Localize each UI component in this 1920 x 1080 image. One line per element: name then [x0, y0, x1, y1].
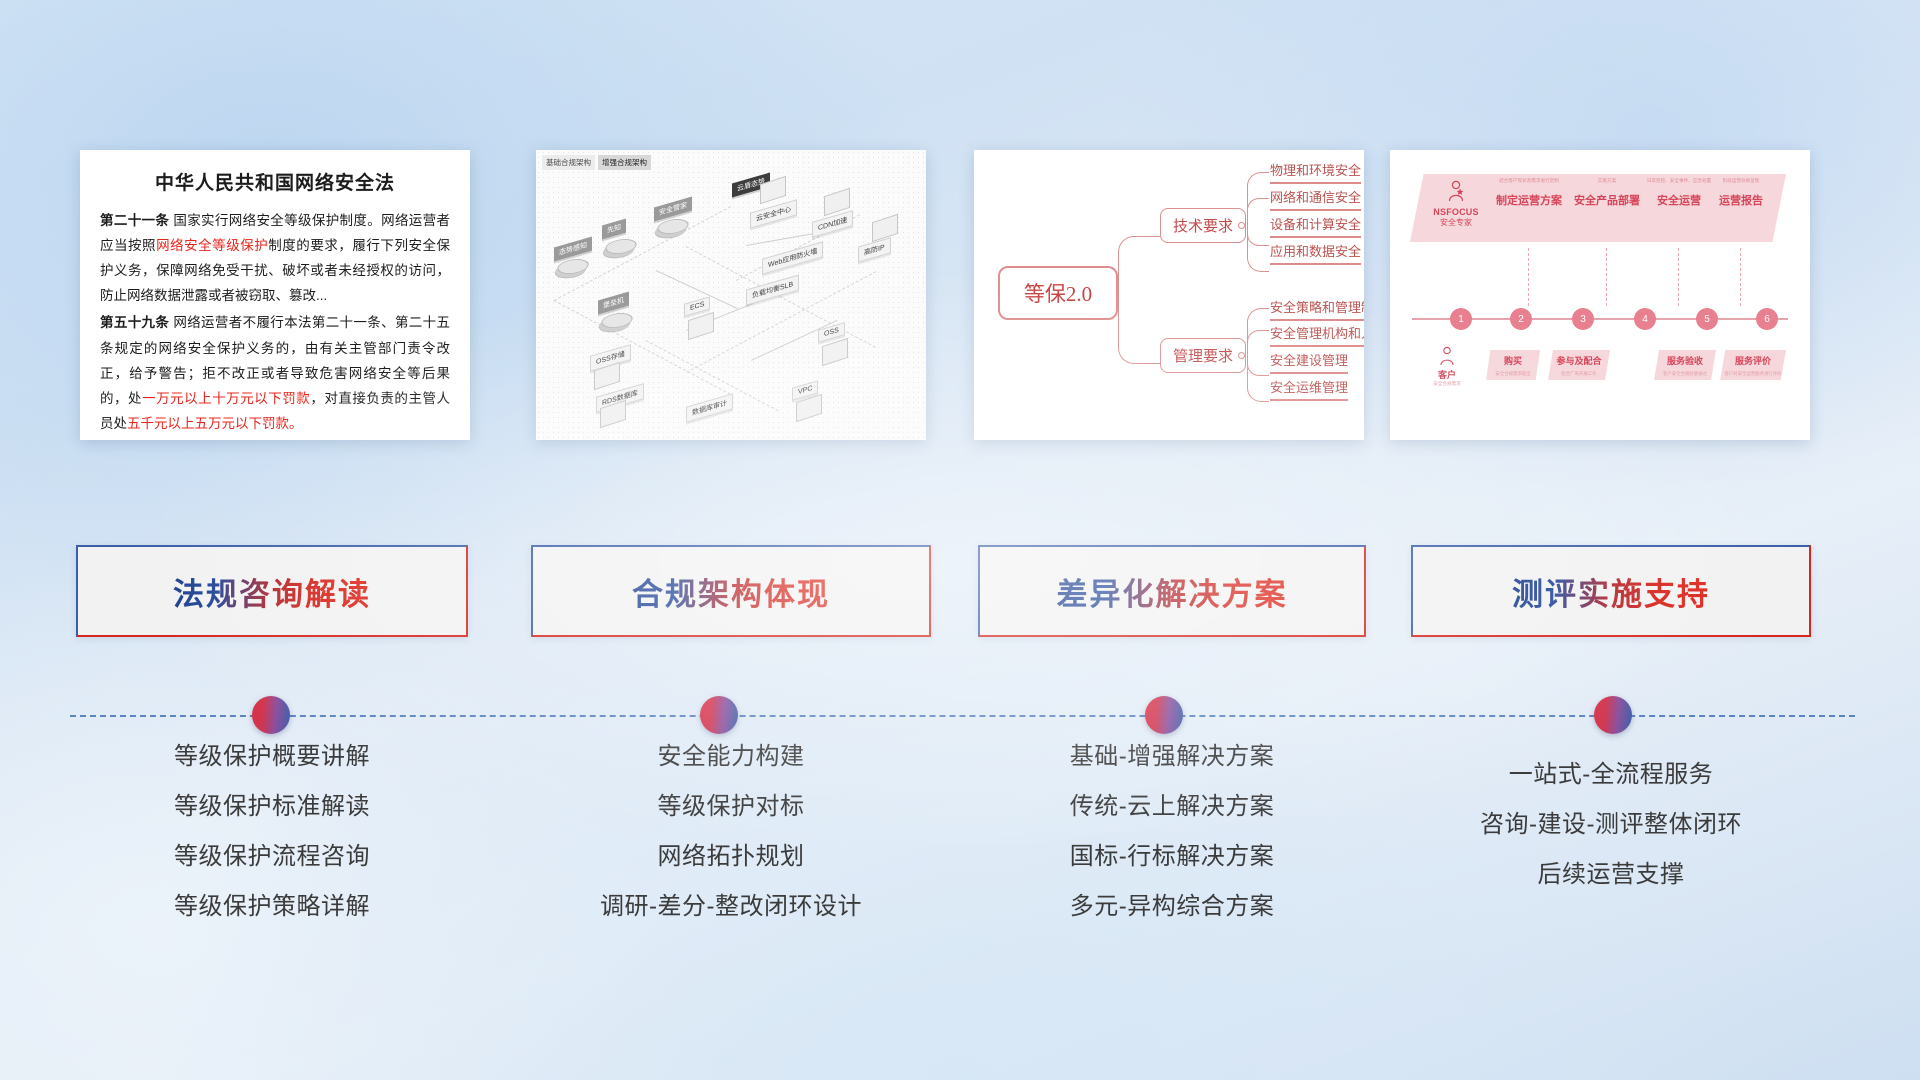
list-item: 咨询-建设-测评整体闭环: [1411, 813, 1811, 837]
nsfocus-step-sub: 阶段运营效果呈现: [1702, 178, 1780, 184]
architecture-tab-basic[interactable]: 基础合规架构: [542, 155, 595, 170]
iso-node: 云安全中心: [750, 199, 797, 228]
card-mindmap-dengbao: 等保2.0 技术要求 管理要求 物理和环境安全 网络和通信安全 设备和计算安全 …: [974, 150, 1364, 440]
architecture-tabs: 基础合规架构 增强合规架构: [542, 155, 651, 170]
card-compliance-architecture: 基础合规架构 增强合规架构 云盾态势 安全管家 先知 态势感知: [536, 150, 926, 440]
mindmap-leaf: 应用和数据安全: [1270, 241, 1361, 265]
iso-node: 先知: [602, 219, 626, 240]
mindmap-connector: [1247, 198, 1269, 226]
nsfocus-chip-sub: 客户安全合规验收通过: [1658, 371, 1712, 377]
iso-node: 堡垒机: [598, 292, 629, 315]
iso-node-disc: [654, 219, 693, 234]
nsfocus-customer-label: 客户: [1420, 368, 1474, 381]
mindmap-leaf: 安全建设管理: [1270, 350, 1348, 374]
nsfocus-step-sub: 结合客户现状及需求进行定制: [1490, 178, 1568, 184]
detail-list-compliance-architecture: 安全能力构建 等级保护对标 网络拓扑规划 调研-差分-整改闭环设计: [531, 745, 931, 945]
iso-node-disc: [598, 313, 637, 328]
list-item: 网络拓扑规划: [531, 845, 931, 869]
list-item: 安全能力构建: [531, 745, 931, 769]
nsfocus-dropline: [1606, 248, 1607, 306]
mindmap-node-dot: [1238, 352, 1245, 359]
timeline-dot-3[interactable]: [1145, 696, 1183, 734]
list-item: 调研-差分-整改闭环设计: [531, 895, 931, 919]
nsfocus-step-column: 结合客户现状及需求进行定制 制定运营方案: [1490, 178, 1568, 208]
list-item: 等级保护对标: [531, 795, 931, 819]
iso-node: CDN加速: [812, 210, 853, 238]
architecture-diagram: 基础合规架构 增强合规架构 云盾态势 安全管家 先知 态势感知: [536, 150, 926, 440]
nsfocus-chip-sub: 安全合规需求提出: [1490, 371, 1536, 377]
heading-label: 法规咨询解读: [173, 569, 371, 614]
heading-box-compliance-architecture[interactable]: 合规架构体现: [531, 545, 931, 637]
iso-node: Web应用防火墙: [762, 241, 823, 275]
iso-node-disc: [602, 239, 641, 254]
headings-row: 法规咨询解读 合规架构体现 差异化解决方案 测评实施支持: [0, 545, 1920, 637]
nsfocus-step-title: 运营报告: [1702, 192, 1780, 208]
mindmap-leaf: 安全策略和管理制度: [1270, 297, 1364, 321]
heading-box-regulation-consulting[interactable]: 法规咨询解读: [76, 545, 468, 637]
mindmap-node-dot: [1238, 222, 1245, 229]
mindmap-leaf: 安全管理机构和人员: [1270, 323, 1364, 347]
nsfocus-dropline: [1678, 248, 1679, 306]
architecture-tab-enhanced[interactable]: 增强合规架构: [598, 155, 651, 170]
nsfocus-step-sub: 实施方案: [1568, 178, 1646, 184]
nsfocus-chip-title: 购买: [1490, 356, 1536, 368]
timeline: [0, 696, 1920, 736]
detail-list-differentiated-solution: 基础-增强解决方案 传统-云上解决方案 国标-行标解决方案 多元-异构综合方案: [978, 745, 1366, 945]
list-item: 一站式-全流程服务: [1411, 763, 1811, 787]
list-item: 等级保护概要讲解: [76, 745, 468, 769]
expert-avatar-icon: [1446, 180, 1466, 202]
nsfocus-bottom-chip: 服务验收 客户安全合规验收通过: [1654, 350, 1716, 380]
nsfocus-expert-block: NSFOCUS 安全专家: [1424, 180, 1488, 229]
iso-node: 态势感知: [554, 237, 592, 262]
nsfocus-step-title: 安全产品部署: [1568, 192, 1646, 208]
nsfocus-dropline: [1528, 248, 1529, 306]
mindmap-branch-technical: 技术要求: [1160, 208, 1246, 243]
timeline-dot-4[interactable]: [1594, 696, 1632, 734]
iso-node: 安全管家: [654, 197, 692, 222]
detail-list-regulation-consulting: 等级保护概要讲解 等级保护标准解读 等级保护流程咨询 等级保护策略详解: [76, 745, 468, 945]
law-title: 中华人民共和国网络安全法: [100, 168, 450, 195]
timeline-dot-1[interactable]: [252, 696, 290, 734]
nsfocus-step-number: 6: [1756, 308, 1778, 330]
nsfocus-customer-sub: 安全合规需求: [1420, 381, 1474, 387]
nsfocus-chip-title: 服务评价: [1724, 356, 1782, 368]
nsfocus-chip-sub: 配合厂商开展工作: [1552, 371, 1606, 377]
mindmap-connector: [1118, 292, 1160, 364]
nsfocus-chip-title: 服务验收: [1658, 356, 1712, 368]
iso-node-cube: [822, 338, 848, 366]
list-item: 国标-行标解决方案: [978, 845, 1366, 869]
mindmap-connector: [1247, 224, 1269, 272]
timeline-dashed-line: [70, 715, 1855, 717]
nsfocus-step-number: 4: [1634, 308, 1656, 330]
heading-box-assessment-support[interactable]: 测评实施支持: [1411, 545, 1811, 637]
nsfocus-brand: NSFOCUS: [1424, 206, 1488, 218]
timeline-dot-2[interactable]: [700, 696, 738, 734]
list-item: 多元-异构综合方案: [978, 895, 1366, 919]
mindmap-connector: [1247, 354, 1269, 402]
mindmap-branch-management: 管理要求: [1160, 338, 1246, 373]
heading-box-differentiated-solution[interactable]: 差异化解决方案: [978, 545, 1366, 637]
mindmap-leaf: 设备和计算安全: [1270, 214, 1361, 238]
nsfocus-step-column: 阶段运营效果呈现 运营报告: [1702, 178, 1780, 208]
nsfocus-role: 安全专家: [1424, 218, 1488, 229]
law-article-21-label: 第二十一条: [100, 213, 169, 228]
list-item: 等级保护流程咨询: [76, 845, 468, 869]
card-cybersecurity-law: 中华人民共和国网络安全法 第二十一条 国家实行网络安全等级保护制度。网络运营者应…: [80, 150, 470, 440]
mindmap-leaf: 安全运维管理: [1270, 377, 1348, 401]
list-item: 等级保护标准解读: [76, 795, 468, 819]
iso-node: 高防IP: [858, 237, 891, 262]
nsfocus-step-title: 制定运营方案: [1490, 192, 1568, 208]
mindmap-connector: [1247, 330, 1269, 356]
law-article-21-highlight: 网络安全等级保护: [156, 238, 268, 253]
nsfocus-dropline: [1740, 248, 1741, 306]
law-article-59: 第五十九条 网络运营者不履行本法第二十一条、第二十五条规定的网络安全保护义务的，…: [100, 310, 450, 436]
list-item: 传统-云上解决方案: [978, 795, 1366, 819]
nsfocus-chip-sub: 客户对安全运营服务进行评价: [1724, 371, 1782, 377]
feature-cards-row: 中华人民共和国网络安全法 第二十一条 国家实行网络安全等级保护制度。网络运营者应…: [0, 150, 1920, 450]
heading-label: 测评实施支持: [1512, 569, 1710, 614]
mindmap-connector: [1118, 236, 1160, 294]
mindmap-leaf: 物理和环境安全: [1270, 160, 1361, 184]
heading-label: 差异化解决方案: [1057, 569, 1288, 614]
detail-lists-row: 等级保护概要讲解 等级保护标准解读 等级保护流程咨询 等级保护策略详解 安全能力…: [0, 745, 1920, 975]
law-article-59-highlight-1: 一万元以上十万元以下罚款: [142, 391, 310, 406]
nsfocus-bottom-chip: 服务评价 客户对安全运营服务进行评价: [1720, 350, 1786, 380]
nsfocus-step-column: 实施方案 安全产品部署: [1568, 178, 1646, 208]
mindmap-diagram: 等保2.0 技术要求 管理要求 物理和环境安全 网络和通信安全 设备和计算安全 …: [974, 150, 1364, 440]
nsfocus-timeline: NSFOCUS 安全专家 结合客户现状及需求进行定制 制定运营方案 实施方案 安…: [1390, 150, 1810, 440]
nsfocus-bottom-chip: 参与及配合 配合厂商开展工作: [1548, 350, 1610, 380]
list-item: 基础-增强解决方案: [978, 745, 1366, 769]
list-item: 后续运营支撑: [1411, 863, 1811, 887]
nsfocus-step-number: 3: [1572, 308, 1594, 330]
law-article-59-label: 第五十九条: [100, 315, 169, 330]
iso-node: 数据库审计: [686, 393, 733, 422]
law-article-59-highlight-2: 五千元以上五万元以下罚款。: [127, 416, 303, 431]
law-document: 中华人民共和国网络安全法 第二十一条 国家实行网络安全等级保护制度。网络运营者应…: [80, 150, 470, 440]
iso-node-disc: [554, 259, 593, 274]
mindmap-leaf: 网络和通信安全: [1270, 187, 1361, 211]
mindmap-root: 等保2.0: [998, 266, 1118, 320]
card-nsfocus-service-flow: NSFOCUS 安全专家 结合客户现状及需求进行定制 制定运营方案 实施方案 安…: [1390, 150, 1810, 440]
detail-list-assessment-support: 一站式-全流程服务 咨询-建设-测评整体闭环 后续运营支撑: [1411, 745, 1811, 913]
list-item: 等级保护策略详解: [76, 895, 468, 919]
nsfocus-customer-block: 客户 安全合规需求: [1420, 346, 1474, 387]
nsfocus-step-number: 1: [1450, 308, 1472, 330]
law-article-21: 第二十一条 国家实行网络安全等级保护制度。网络运营者应当按照网络安全等级保护制度…: [100, 208, 450, 308]
customer-avatar-icon: [1438, 346, 1456, 366]
iso-node-cube: [688, 312, 714, 340]
nsfocus-step-number: 2: [1510, 308, 1532, 330]
iso-node: 负载均衡SLB: [746, 274, 799, 305]
nsfocus-chip-title: 参与及配合: [1552, 356, 1606, 368]
heading-label: 合规架构体现: [632, 569, 830, 614]
nsfocus-bottom-chip: 购买 安全合规需求提出: [1486, 350, 1540, 380]
nsfocus-step-number: 5: [1696, 308, 1718, 330]
